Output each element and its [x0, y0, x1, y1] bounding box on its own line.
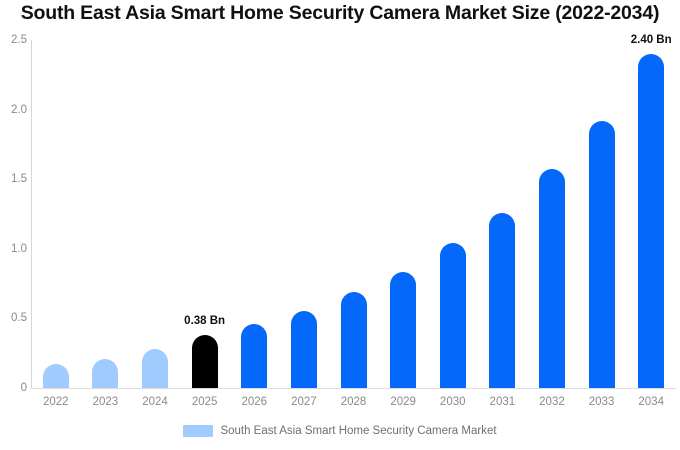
x-axis-tick-label: 2030	[440, 396, 466, 408]
bar-slot	[539, 40, 565, 388]
x-axis-tick-label: 2024	[142, 396, 168, 408]
x-axis-tick-label: 2026	[241, 396, 267, 408]
bar-2032[interactable]	[539, 169, 565, 388]
x-axis-line	[31, 388, 676, 389]
y-axis-tick-label: 1.0	[1, 243, 27, 255]
bar-slot	[291, 40, 317, 388]
chart-legend: South East Asia Smart Home Security Came…	[0, 425, 680, 437]
plot-area	[31, 40, 676, 388]
bar-slot	[192, 40, 218, 388]
legend-label[interactable]: South East Asia Smart Home Security Came…	[220, 425, 496, 437]
bar-slot	[142, 40, 168, 388]
bar-2026[interactable]	[241, 324, 267, 388]
x-axis-tick-label: 2033	[589, 396, 615, 408]
x-axis-tick-label: 2034	[638, 396, 664, 408]
x-axis-tick-label: 2027	[291, 396, 317, 408]
bar-2024[interactable]	[142, 349, 168, 388]
bar-slot	[589, 40, 615, 388]
y-axis-tick-label: 0.5	[1, 312, 27, 324]
bar-slot	[43, 40, 69, 388]
x-axis-tick-label: 2029	[390, 396, 416, 408]
bar-value-label-2025: 0.38 Bn	[184, 315, 225, 327]
bar-2028[interactable]	[341, 292, 367, 388]
bar-2031[interactable]	[489, 213, 515, 388]
bar-slot	[390, 40, 416, 388]
bar-2022[interactable]	[43, 364, 69, 388]
x-axis-tick-label: 2028	[341, 396, 367, 408]
x-axis-tick-label: 2025	[192, 396, 218, 408]
bar-2025[interactable]	[192, 335, 218, 388]
y-axis-tick-labels: 00.51.01.52.02.5	[0, 0, 27, 450]
bar-2033[interactable]	[589, 121, 615, 388]
y-axis-tick-label: 2.5	[1, 34, 27, 46]
bar-2034[interactable]	[638, 54, 664, 388]
chart-container: South East Asia Smart Home Security Came…	[0, 0, 680, 450]
bar-2030[interactable]	[440, 243, 466, 388]
x-axis-tick-label: 2022	[43, 396, 69, 408]
x-axis-tick-label: 2023	[93, 396, 119, 408]
y-axis-tick-label: 1.5	[1, 173, 27, 185]
bar-value-label-2034: 2.40 Bn	[631, 34, 672, 46]
y-axis-tick-label: 2.0	[1, 104, 27, 116]
legend-swatch[interactable]	[183, 425, 213, 437]
bar-slot	[440, 40, 466, 388]
chart-title: South East Asia Smart Home Security Came…	[0, 2, 680, 25]
bar-slot	[241, 40, 267, 388]
bar-2029[interactable]	[390, 272, 416, 388]
bar-slot	[638, 40, 664, 388]
x-axis-tick-label: 2032	[539, 396, 565, 408]
bar-2023[interactable]	[92, 359, 118, 388]
bar-2027[interactable]	[291, 311, 317, 388]
bar-slot	[92, 40, 118, 388]
y-axis-tick-label: 0	[1, 382, 27, 394]
bar-slot	[341, 40, 367, 388]
x-axis-tick-label: 2031	[490, 396, 516, 408]
bar-slot	[489, 40, 515, 388]
